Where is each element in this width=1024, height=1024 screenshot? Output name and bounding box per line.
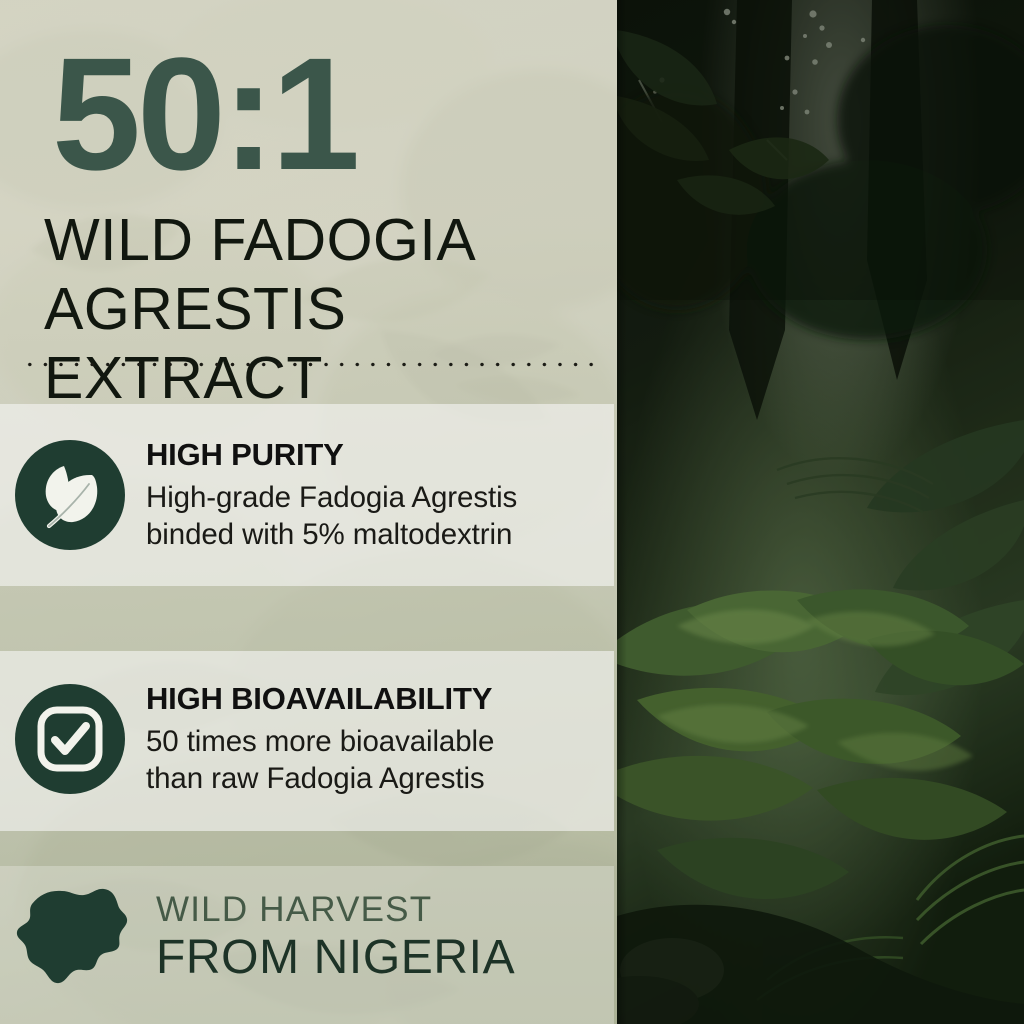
check-square-icon bbox=[15, 684, 125, 794]
feature-row-high-bioavailability: HIGH BIOAVAILABILITY 50 times more bioav… bbox=[0, 668, 614, 810]
feature-text-2: HIGH BIOAVAILABILITY 50 times more bioav… bbox=[140, 681, 614, 798]
origin-label-large: FROM NIGERIA bbox=[156, 933, 614, 983]
check-square-glyph bbox=[34, 703, 106, 775]
origin-text: WILD HARVEST FROM NIGERIA bbox=[150, 891, 614, 984]
check-square-icon-wrap bbox=[0, 684, 140, 794]
nigeria-map-icon-wrap bbox=[0, 882, 150, 992]
dotted-divider bbox=[22, 362, 594, 367]
infographic-canvas: 50:1 WILD FADOGIA AGRESTIS EXTRACT HIGH … bbox=[0, 0, 1024, 1024]
feature-body-1: High-grade Fadogia Agrestis binded with … bbox=[146, 479, 614, 553]
feature-title-1: HIGH PURITY bbox=[146, 437, 614, 473]
feature-row-origin: WILD HARVEST FROM NIGERIA bbox=[0, 878, 614, 996]
feature-body-2: 50 times more bioavailable than raw Fado… bbox=[146, 723, 614, 797]
leaf-icon-wrap bbox=[0, 440, 140, 550]
leaf-glyph bbox=[31, 456, 109, 534]
feature-text-1: HIGH PURITY High-grade Fadogia Agrestis … bbox=[140, 437, 614, 554]
feature-title-2: HIGH BIOAVAILABILITY bbox=[146, 681, 614, 717]
origin-label-small: WILD HARVEST bbox=[156, 891, 614, 930]
page-title-ratio: 50:1 bbox=[52, 34, 356, 194]
jungle-illustration bbox=[617, 0, 1024, 1024]
left-content: 50:1 WILD FADOGIA AGRESTIS EXTRACT HIGH … bbox=[0, 0, 617, 1024]
nigeria-map-icon bbox=[14, 882, 136, 992]
leaf-icon bbox=[15, 440, 125, 550]
product-name: WILD FADOGIA AGRESTIS EXTRACT bbox=[44, 206, 604, 413]
feature-row-high-purity: HIGH PURITY High-grade Fadogia Agrestis … bbox=[0, 424, 614, 566]
rainforest-jungle-photo bbox=[617, 0, 1024, 1024]
